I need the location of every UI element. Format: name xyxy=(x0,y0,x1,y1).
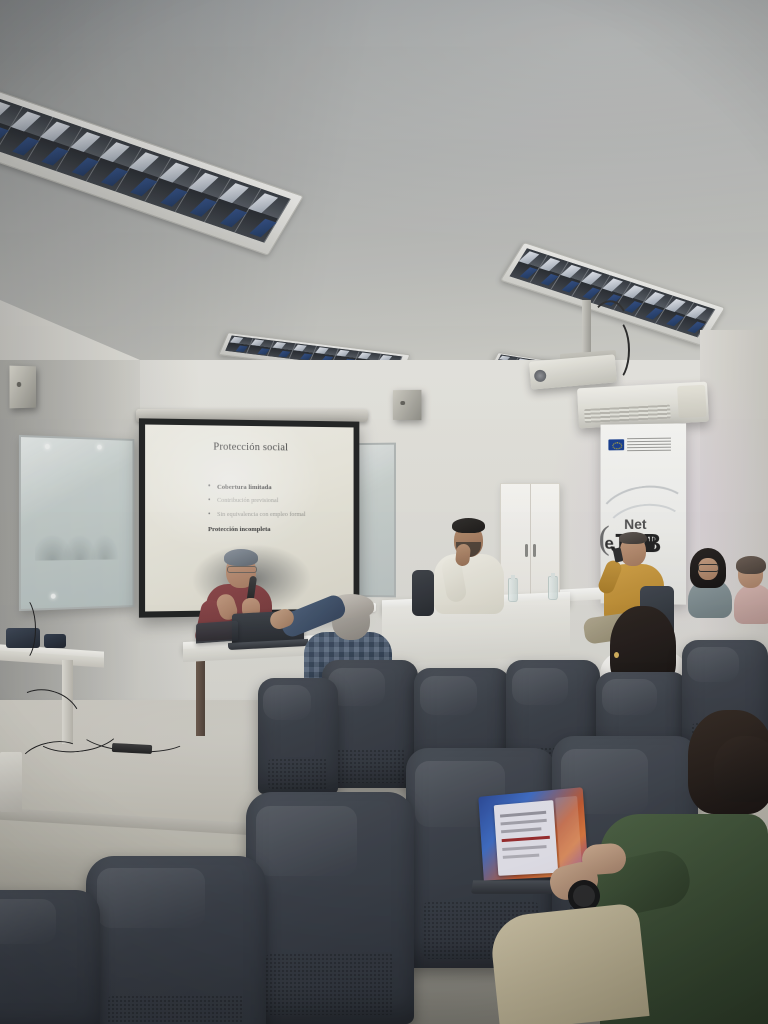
auditorium-chair-foreground[interactable] xyxy=(246,792,414,1024)
chair-back xyxy=(0,890,100,1024)
person-head-top-right xyxy=(714,736,768,802)
chair-back xyxy=(246,792,414,1024)
speaker-left-icon xyxy=(10,366,36,409)
eu-funding-text xyxy=(627,438,671,452)
eu-flag-icon xyxy=(608,439,624,450)
ochre-hair xyxy=(619,532,647,544)
photo-scene: ( Net e JOB Protección social Cobertura … xyxy=(0,0,768,1024)
auditorium-chair-foreground[interactable] xyxy=(86,856,266,1024)
pc-tower xyxy=(0,752,22,812)
wall-cable xyxy=(8,596,36,662)
auditorium-chair[interactable] xyxy=(258,678,338,794)
desk-equipment xyxy=(44,634,66,648)
ac-end-cap xyxy=(677,385,707,418)
air-conditioner xyxy=(577,382,709,429)
ac-vent-icon xyxy=(584,405,671,423)
projector-lens-icon xyxy=(534,369,547,382)
woman-right-torso xyxy=(734,584,768,624)
top-right-head-hair xyxy=(714,736,768,802)
panelist-hair xyxy=(452,518,485,533)
glasses-icon xyxy=(698,564,719,572)
auditorium-chair-foreground[interactable] xyxy=(0,890,100,1024)
desk-leg xyxy=(196,652,205,736)
laptop-user-trousers xyxy=(488,902,649,1024)
woman-right-hair xyxy=(736,556,766,574)
presenter-glasses-icon xyxy=(227,566,257,573)
speaker-right-icon xyxy=(393,390,422,420)
person-laptop-user xyxy=(560,768,768,1024)
laptop-secondary-screen[interactable] xyxy=(196,621,238,644)
whiteboard-mount-dot xyxy=(45,444,50,449)
whiteboard-mount-dot xyxy=(97,445,102,450)
cabinet-handle-right[interactable] xyxy=(533,544,536,557)
chair-back xyxy=(86,856,266,1024)
cabinet-door-split xyxy=(530,484,531,602)
chair-back xyxy=(258,678,338,794)
presenter-hair xyxy=(224,549,258,566)
person-woman-right xyxy=(734,556,768,622)
woman-white-earring-icon xyxy=(614,652,619,658)
cabinet-handle-left[interactable] xyxy=(525,544,528,557)
water-bottle xyxy=(548,576,558,600)
person-panelist xyxy=(428,518,520,610)
glass-whiteboard-left xyxy=(19,435,134,611)
whiteboard-reflected-people xyxy=(35,523,120,561)
